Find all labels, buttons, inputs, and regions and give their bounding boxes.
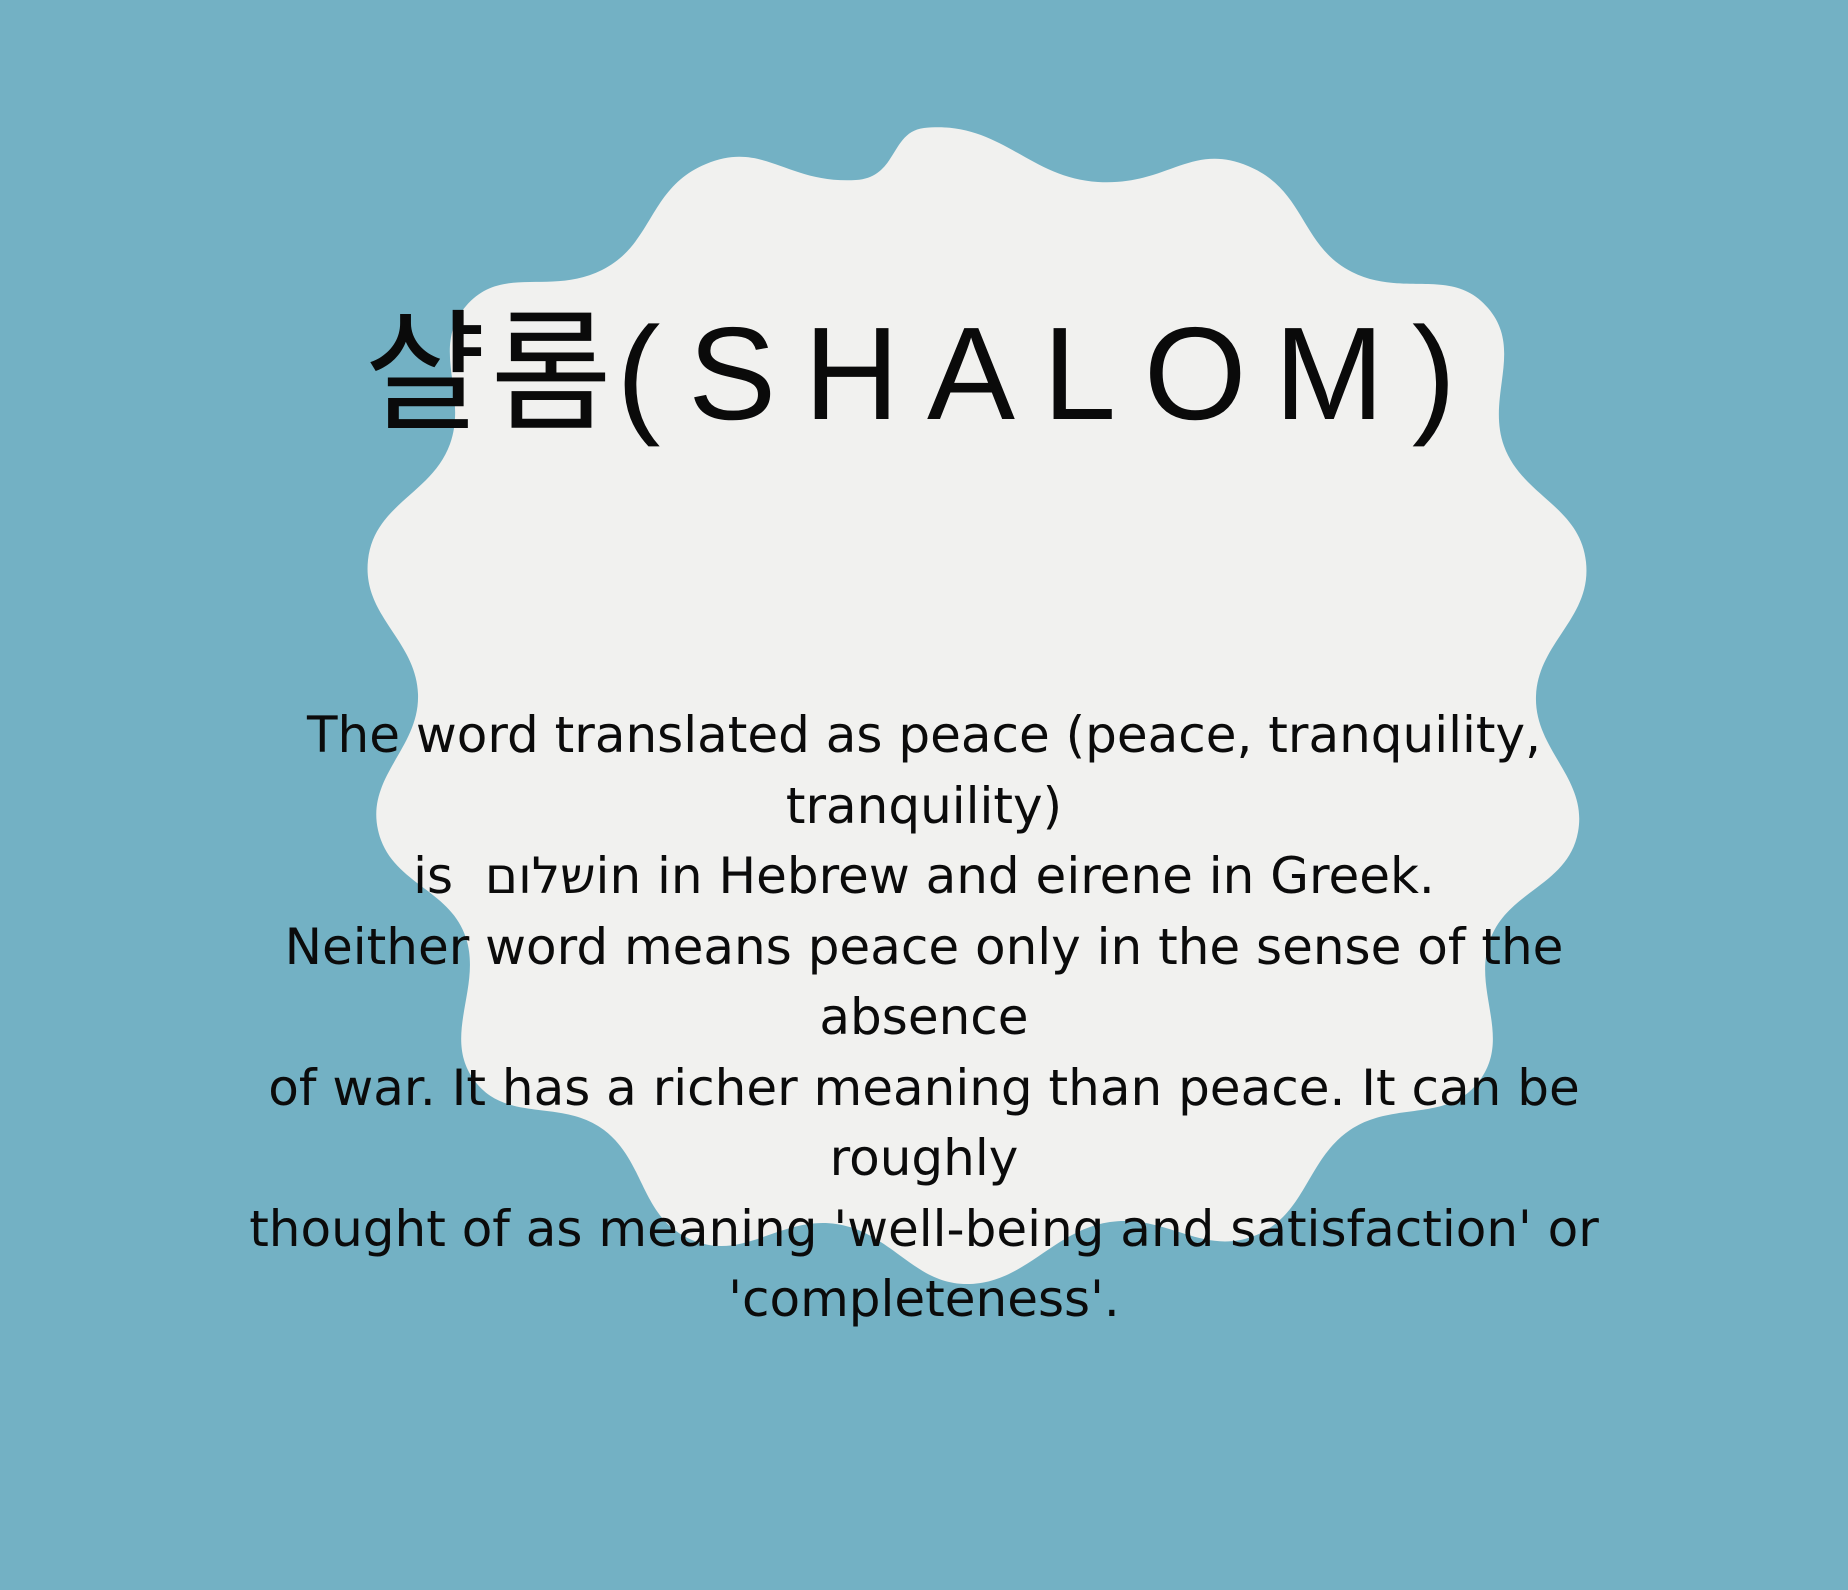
body-line-4: of war. It has a richer meaning than pea…	[224, 1053, 1624, 1194]
body-line-2-prefix: is	[413, 847, 485, 905]
shalom-card: 샬롬(SHALOM) The word translated as peace …	[0, 0, 1848, 1590]
page-title: 샬롬(SHALOM)	[144, 305, 1704, 443]
body-line-3: Neither word means peace only in the sen…	[224, 912, 1624, 1053]
body-line-6: 'completeness'.	[224, 1264, 1624, 1335]
body-line-5: thought of as meaning 'well-being and sa…	[224, 1194, 1624, 1265]
body-line-2: is שלוםin in Hebrew and eirene in Greek.	[224, 841, 1624, 912]
title-latin: (SHALOM)	[616, 300, 1483, 447]
body-line-2-suffix: in in Hebrew and eirene in Greek.	[596, 847, 1435, 905]
body-line-1: The word translated as peace (peace, tra…	[224, 700, 1624, 841]
title-korean: 샬롬	[364, 297, 616, 451]
hebrew-word: שלום	[485, 847, 596, 905]
card-content: 샬롬(SHALOM) The word translated as peace …	[0, 0, 1848, 1590]
body-paragraph: The word translated as peace (peace, tra…	[224, 700, 1624, 1335]
